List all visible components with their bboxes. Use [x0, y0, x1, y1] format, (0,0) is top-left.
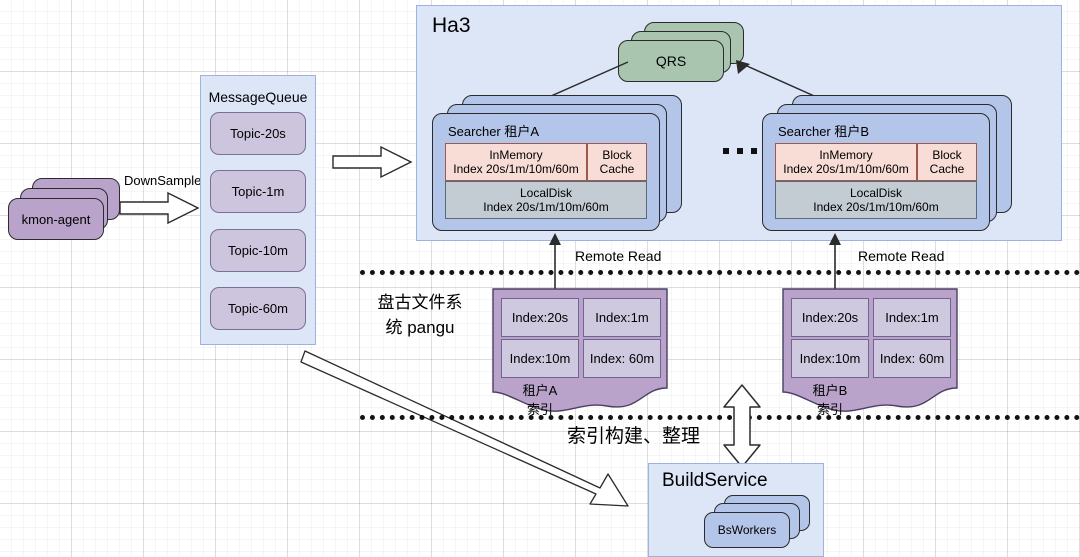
ha3-title: Ha3 — [432, 14, 471, 38]
searcher-ellipsis — [723, 148, 763, 156]
remote-read-a-label: Remote Read — [575, 248, 661, 264]
searcher-b-block-cache-line2: Cache — [930, 162, 965, 176]
index-store-b-caption-line1: 租户B — [791, 380, 869, 399]
searcher-a-localdisk-line2: Index 20s/1m/10m/60m — [483, 200, 608, 214]
pangu-label: 盘古文件系 统 pangu — [360, 288, 480, 338]
pangu-label-line1: 盘古文件系 — [360, 288, 480, 313]
topic-item-2[interactable]: Topic-10m — [210, 229, 306, 272]
pangu-label-line2: 统 pangu — [360, 313, 480, 338]
pangu-separator-bottom — [360, 415, 1080, 420]
searcher-b-localdisk-line2: Index 20s/1m/10m/60m — [813, 200, 938, 214]
remote-read-b-label: Remote Read — [858, 248, 944, 264]
qrs-box[interactable]: QRS — [618, 40, 724, 82]
message-queue-title: MessageQueue — [200, 88, 316, 106]
index-store-a-cell-1: Index:1m — [583, 298, 661, 337]
searcher-a-group: Searcher 租户A InMemory Index 20s/1m/10m/6… — [432, 95, 702, 235]
topic-item-0[interactable]: Topic-20s — [210, 112, 306, 155]
index-store-b-cell-3: Index: 60m — [873, 339, 951, 378]
ellipsis-dot-1 — [723, 148, 729, 154]
index-store-b-caption-line2: 索引 — [791, 399, 869, 418]
index-store-b-cell-0: Index:20s — [791, 298, 869, 337]
index-store-a-caption-line2: 索引 — [501, 399, 579, 418]
downsample-arrow — [120, 190, 202, 230]
index-store-b-cell-2: Index:10m — [791, 339, 869, 378]
index-build-label: 索引构建、整理 — [567, 421, 700, 448]
searcher-a-inmemory: InMemory Index 20s/1m/10m/60m — [445, 143, 587, 181]
index-store-a-cell-3: Index: 60m — [583, 339, 661, 378]
index-store-a-caption: 租户A 索引 — [501, 380, 579, 418]
searcher-a-localdisk: LocalDisk Index 20s/1m/10m/60m — [445, 181, 647, 219]
searcher-b-localdisk-line1: LocalDisk — [850, 186, 902, 200]
downsample-label: DownSample — [124, 173, 201, 188]
searcher-b-title: Searcher 租户B — [778, 121, 869, 140]
ellipsis-dot-2 — [737, 148, 743, 154]
searcher-b-group: Searcher 租户B InMemory Index 20s/1m/10m/6… — [762, 95, 1032, 235]
index-store-a-caption-line1: 租户A — [501, 380, 579, 399]
index-store-b-caption: 租户B 索引 — [791, 380, 869, 418]
diagram-canvas: kmon-agent DownSample MessageQueue Topic… — [0, 0, 1080, 557]
searcher-a-inmemory-line1: InMemory — [489, 148, 542, 162]
index-store-a-cell-2: Index:10m — [501, 339, 579, 378]
index-build-double-arrow — [722, 385, 764, 467]
searcher-b-inmemory: InMemory Index 20s/1m/10m/60m — [775, 143, 917, 181]
searcher-a-title: Searcher 租户A — [448, 121, 539, 140]
ellipsis-dot-3 — [751, 148, 757, 154]
build-service-title: BuildService — [662, 470, 768, 492]
index-store-a[interactable]: Index:20s Index:1m Index:10m Index: 60m … — [492, 288, 668, 406]
mq-to-ha3-arrow — [333, 146, 417, 184]
index-store-b-cell-1: Index:1m — [873, 298, 951, 337]
remote-read-b-arrow — [828, 233, 842, 291]
bsworkers-box[interactable]: BsWorkers — [704, 512, 790, 548]
index-store-a-cell-0: Index:20s — [501, 298, 579, 337]
bsworkers-group: BsWorkers — [704, 495, 824, 551]
topic-item-3[interactable]: Topic-60m — [210, 287, 306, 330]
remote-read-a-arrow — [548, 233, 562, 291]
searcher-b-localdisk: LocalDisk Index 20s/1m/10m/60m — [775, 181, 977, 219]
searcher-b-block-cache-line1: Block — [932, 148, 961, 162]
kmon-agent-box[interactable]: kmon-agent — [8, 198, 104, 240]
searcher-a-block-cache-line2: Cache — [600, 162, 635, 176]
kmon-agent-group: kmon-agent — [6, 178, 122, 240]
searcher-a-localdisk-line1: LocalDisk — [520, 186, 572, 200]
pangu-separator-top — [360, 270, 1080, 275]
index-store-b[interactable]: Index:20s Index:1m Index:10m Index: 60m … — [782, 288, 958, 406]
searcher-a-inmemory-line2: Index 20s/1m/10m/60m — [453, 162, 578, 176]
searcher-b-inmemory-line1: InMemory — [819, 148, 872, 162]
searcher-b-block-cache: Block Cache — [917, 143, 977, 181]
topic-item-1[interactable]: Topic-1m — [210, 170, 306, 213]
searcher-b-inmemory-line2: Index 20s/1m/10m/60m — [783, 162, 908, 176]
searcher-a-block-cache: Block Cache — [587, 143, 647, 181]
searcher-a-block-cache-line1: Block — [602, 148, 631, 162]
qrs-group: QRS — [618, 22, 748, 84]
